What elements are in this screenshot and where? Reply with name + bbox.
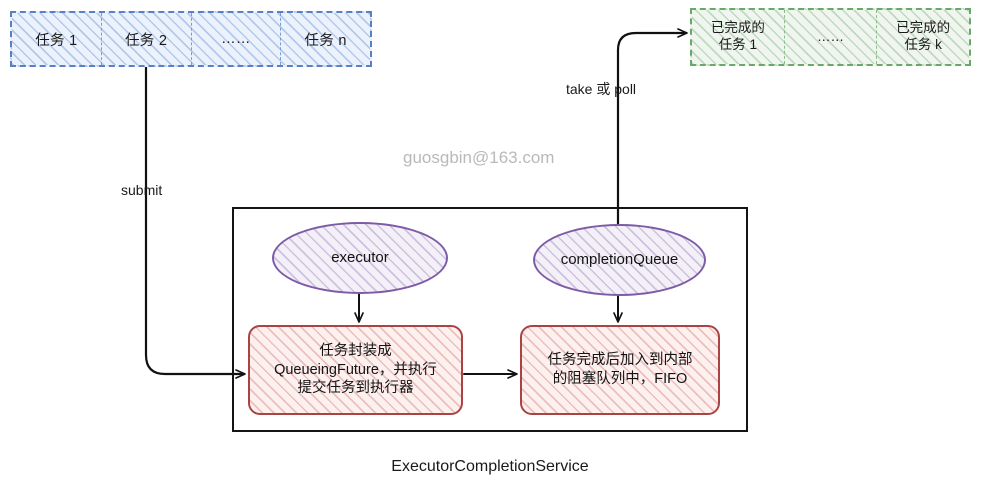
task-queue-cell: 任务 1: [12, 13, 102, 65]
completed-task-queue: 已完成的 任务 1 …… 已完成的 任务 k: [690, 8, 971, 66]
task-queue: 任务 1 任务 2 …… 任务 n: [10, 11, 372, 67]
edge-label-submit: submit: [121, 182, 162, 198]
node-queueing-future: 任务封装成 QueueingFuture，并执行 提交任务到执行器: [248, 325, 463, 415]
watermark-text: guosgbin@163.com: [403, 148, 554, 168]
task-queue-cell: 任务 2: [102, 13, 192, 65]
node-completion-queue: completionQueue: [533, 224, 706, 296]
task-queue-cell: 任务 n: [281, 13, 370, 65]
edge-label-take-or-poll: take 或 poll: [566, 79, 636, 99]
diagram-canvas: 任务 1 任务 2 …… 任务 n 已完成的 任务 1 …… 已完成的 任务 k…: [0, 0, 981, 503]
edge-submit: [146, 67, 244, 374]
completed-task-cell: 已完成的 任务 1: [692, 10, 785, 64]
node-blocking-queue: 任务完成后加入到内部 的阻塞队列中，FIFO: [520, 325, 720, 415]
completed-task-cell: ……: [785, 10, 878, 64]
task-queue-cell: ……: [192, 13, 282, 65]
service-caption: ExecutorCompletionService: [232, 458, 748, 476]
completed-task-cell: 已完成的 任务 k: [877, 10, 969, 64]
node-executor: executor: [272, 222, 448, 294]
